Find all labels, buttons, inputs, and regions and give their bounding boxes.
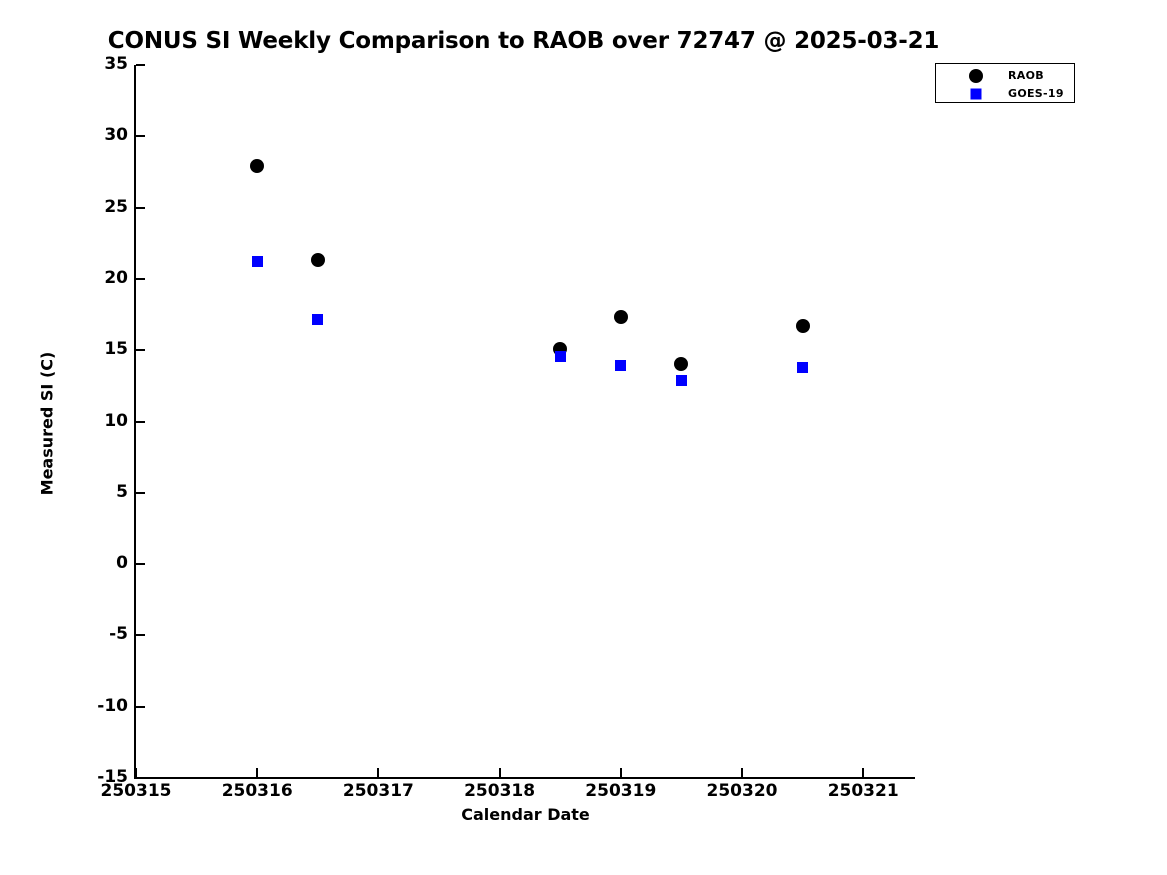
y-tick-label: -10 (68, 698, 128, 715)
y-tick-label: 35 (68, 56, 128, 73)
x-tick-label: 250317 (308, 783, 448, 800)
x-tick-label: 250321 (793, 783, 933, 800)
data-point-raob (674, 357, 688, 371)
y-tick-label: -5 (68, 626, 128, 643)
x-tick-label: 250315 (66, 783, 206, 800)
legend-marker-square-icon (966, 85, 986, 103)
y-tick-label: 30 (68, 127, 128, 144)
data-point-raob (311, 253, 325, 267)
y-tick-label: 0 (68, 555, 128, 572)
data-point-goes-19 (615, 360, 626, 371)
data-point-goes-19 (555, 351, 566, 362)
legend-label: GOES-19 (1008, 85, 1064, 103)
data-point-raob (250, 159, 264, 173)
legend-item-raob[interactable]: RAOB (936, 67, 1074, 85)
y-tick-label: 25 (68, 199, 128, 216)
data-point-goes-19 (676, 375, 687, 386)
legend-marker-circle-icon (966, 67, 986, 85)
data-point-goes-19 (312, 314, 323, 325)
x-tick-label: 250319 (551, 783, 691, 800)
x-tick-label: 250318 (430, 783, 570, 800)
data-point-raob (796, 319, 810, 333)
plot-area (136, 65, 915, 778)
legend-label: RAOB (1008, 67, 1044, 85)
y-tick-label: 5 (68, 484, 128, 501)
x-tick-label: 250316 (187, 783, 327, 800)
legend-item-goes-19[interactable]: GOES-19 (936, 85, 1074, 103)
y-tick-label: 10 (68, 413, 128, 430)
legend: RAOBGOES-19 (935, 63, 1075, 103)
y-axis-title: Measured SI (C) (38, 344, 57, 504)
data-point-goes-19 (252, 256, 263, 267)
chart-page: CONUS SI Weekly Comparison to RAOB over … (0, 0, 1167, 875)
data-point-goes-19 (797, 362, 808, 373)
x-axis-title: Calendar Date (136, 805, 915, 824)
y-tick-label: 20 (68, 270, 128, 287)
y-tick-label: 15 (68, 341, 128, 358)
x-tick-label: 250320 (672, 783, 812, 800)
chart-title: CONUS SI Weekly Comparison to RAOB over … (0, 28, 1047, 54)
data-point-raob (614, 310, 628, 324)
